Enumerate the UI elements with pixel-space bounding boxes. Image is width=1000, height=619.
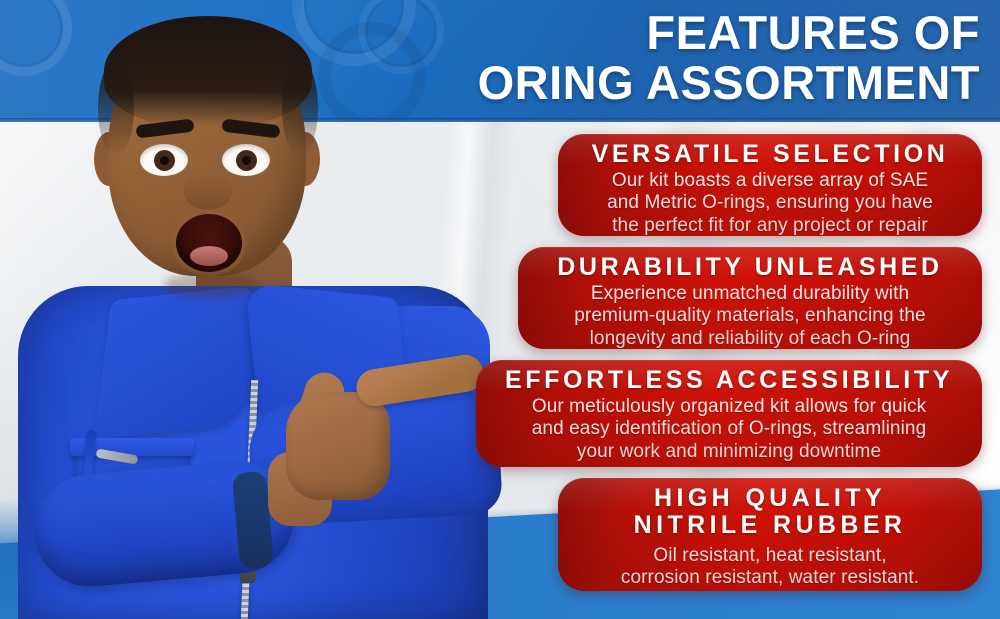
feature-card-body-line: and easy identification of O-rings, stre… — [492, 418, 966, 440]
hair-side-left — [98, 60, 134, 156]
feature-card-title-line: HIGH QUALITY — [574, 485, 966, 512]
feature-card-body: Our kit boasts a diverse array of SAE an… — [574, 170, 966, 237]
chin-shadow — [164, 272, 258, 298]
feature-card-body: Oil resistant, heat resistant, corrosion… — [574, 545, 966, 590]
feature-card-body-line: Experience unmatched durability with — [534, 283, 966, 305]
hair-side-right — [282, 60, 318, 156]
feature-card-body-line: and Metric O-rings, ensuring you have — [574, 192, 966, 214]
feature-card-body-line: Our kit boasts a diverse array of SAE — [574, 170, 966, 192]
title-line-1: FEATURES OF — [646, 6, 980, 59]
feature-card-durability-unleashed[interactable]: DURABILITY UNLEASHED Experience unmatche… — [518, 247, 982, 349]
feature-card-body-line: your work and minimizing downtime — [492, 441, 966, 463]
nose — [184, 174, 232, 210]
feature-card-body: Experience unmatched durability with pre… — [534, 283, 966, 350]
feature-card-body-line: the perfect fit for any project or repai… — [574, 215, 966, 237]
feature-card-body-line: longevity and reliability of each O-ring — [534, 328, 966, 350]
feature-poster: FEATURES OF ORING ASSORTMENT — [0, 0, 1000, 619]
tongue — [190, 246, 228, 266]
hair — [104, 16, 312, 126]
feature-card-body-line: premium-quality materials, enhancing the — [534, 305, 966, 327]
feature-card-body-line: Oil resistant, heat resistant, — [574, 545, 966, 567]
feature-card-versatile-selection[interactable]: VERSATILE SELECTION Our kit boasts a div… — [558, 134, 982, 236]
mechanic-photo — [0, 0, 500, 619]
feature-card-title: VERSATILE SELECTION — [574, 141, 966, 168]
feature-card-title: DURABILITY UNLEASHED — [534, 254, 966, 281]
feature-card-body-line: Our meticulously organized kit allows fo… — [492, 396, 966, 418]
pointing-hand — [286, 392, 390, 500]
feature-card-body: Our meticulously organized kit allows fo… — [492, 396, 966, 463]
pupil-left — [160, 156, 169, 165]
feature-card-high-quality-nitrile-rubber[interactable]: HIGH QUALITY NITRILE RUBBER Oil resistan… — [558, 478, 982, 591]
pupil-right — [242, 156, 251, 165]
feature-card-title: EFFORTLESS ACCESSIBILITY — [492, 367, 966, 394]
feature-card-title: HIGH QUALITY NITRILE RUBBER — [574, 485, 966, 539]
feature-card-title-line: NITRILE RUBBER — [574, 512, 966, 539]
feature-card-effortless-accessibility[interactable]: EFFORTLESS ACCESSIBILITY Our meticulousl… — [476, 360, 982, 467]
feature-card-body-line: corrosion resistant, water resistant. — [574, 567, 966, 589]
